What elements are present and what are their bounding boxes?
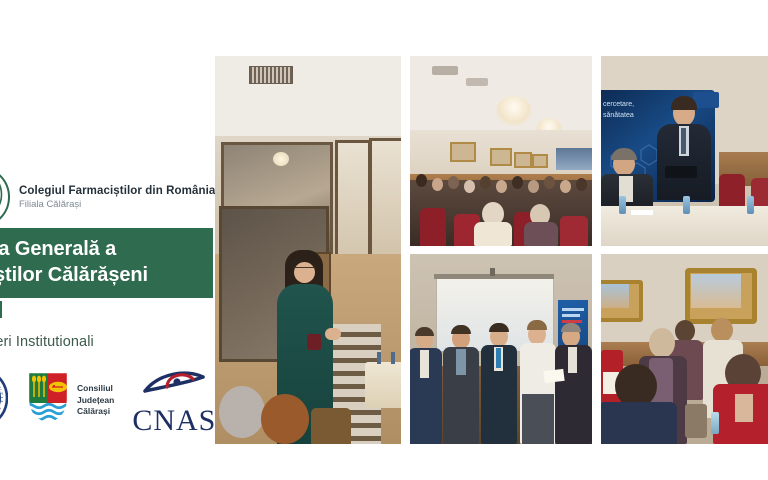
partner-consiliul-judetean: Consiliul Județean Călărași [26, 370, 114, 431]
prefecture-seal-icon: INSTITUȚIA PREFECTULUI JUDEȚUL CĂLĂRAȘI [0, 367, 8, 434]
presidium-banner-line-1: cercetare, [603, 100, 634, 111]
left-info-panel: Colegiul Farmaciștilor din România Filia… [0, 0, 215, 480]
organization-identity: Colegiul Farmaciștilor din România Filia… [0, 166, 215, 228]
cnas-wordmark: CNAS [132, 407, 215, 434]
photo-presidium: cercetare, sănătatea [601, 56, 768, 246]
event-date-badge: 15.04.2026 [0, 301, 2, 318]
cj-label-line-1: Consiliul [77, 383, 114, 394]
partner-logo-strip: INSTITUȚIA PREFECTULUI JUDEȚUL CĂLĂRAȘI [0, 363, 215, 438]
poster-canvas: Colegiul Farmaciștilor din România Filia… [0, 0, 768, 480]
organization-name: Colegiul Farmaciștilor din România [19, 185, 215, 198]
photo-audience [410, 56, 592, 246]
cj-label-line-2: Județean [77, 395, 114, 406]
pharmacy-bowl-of-hygieia-icon [0, 166, 10, 228]
partner-cnas: CNAS [132, 367, 215, 434]
photo-group-award [410, 254, 592, 444]
headline-line-2: Farmaciștilor Călărășeni [0, 263, 203, 289]
partner-consiliul-judetean-label: Consiliul Județean Călărași [77, 383, 114, 417]
cj-label-line-3: Călărași [77, 406, 114, 417]
cnas-eye-icon [137, 367, 211, 406]
county-coat-of-arms-icon [26, 370, 70, 431]
partner-prefectura-calarasi: INSTITUȚIA PREFECTULUI JUDEȚUL CĂLĂRAȘI [0, 367, 8, 434]
photo-speaker [215, 56, 401, 444]
photo-networking [601, 254, 768, 444]
headline-banner: Adunarea Generală a Farmaciștilor Călără… [0, 228, 213, 298]
organization-branch: Filiala Călărași [19, 200, 215, 211]
headline-line-1: Adunarea Generală a [0, 237, 203, 263]
partners-heading: Parteneri Institutionali [0, 334, 94, 350]
photo-collage: cercetare, sănătatea [215, 56, 768, 444]
